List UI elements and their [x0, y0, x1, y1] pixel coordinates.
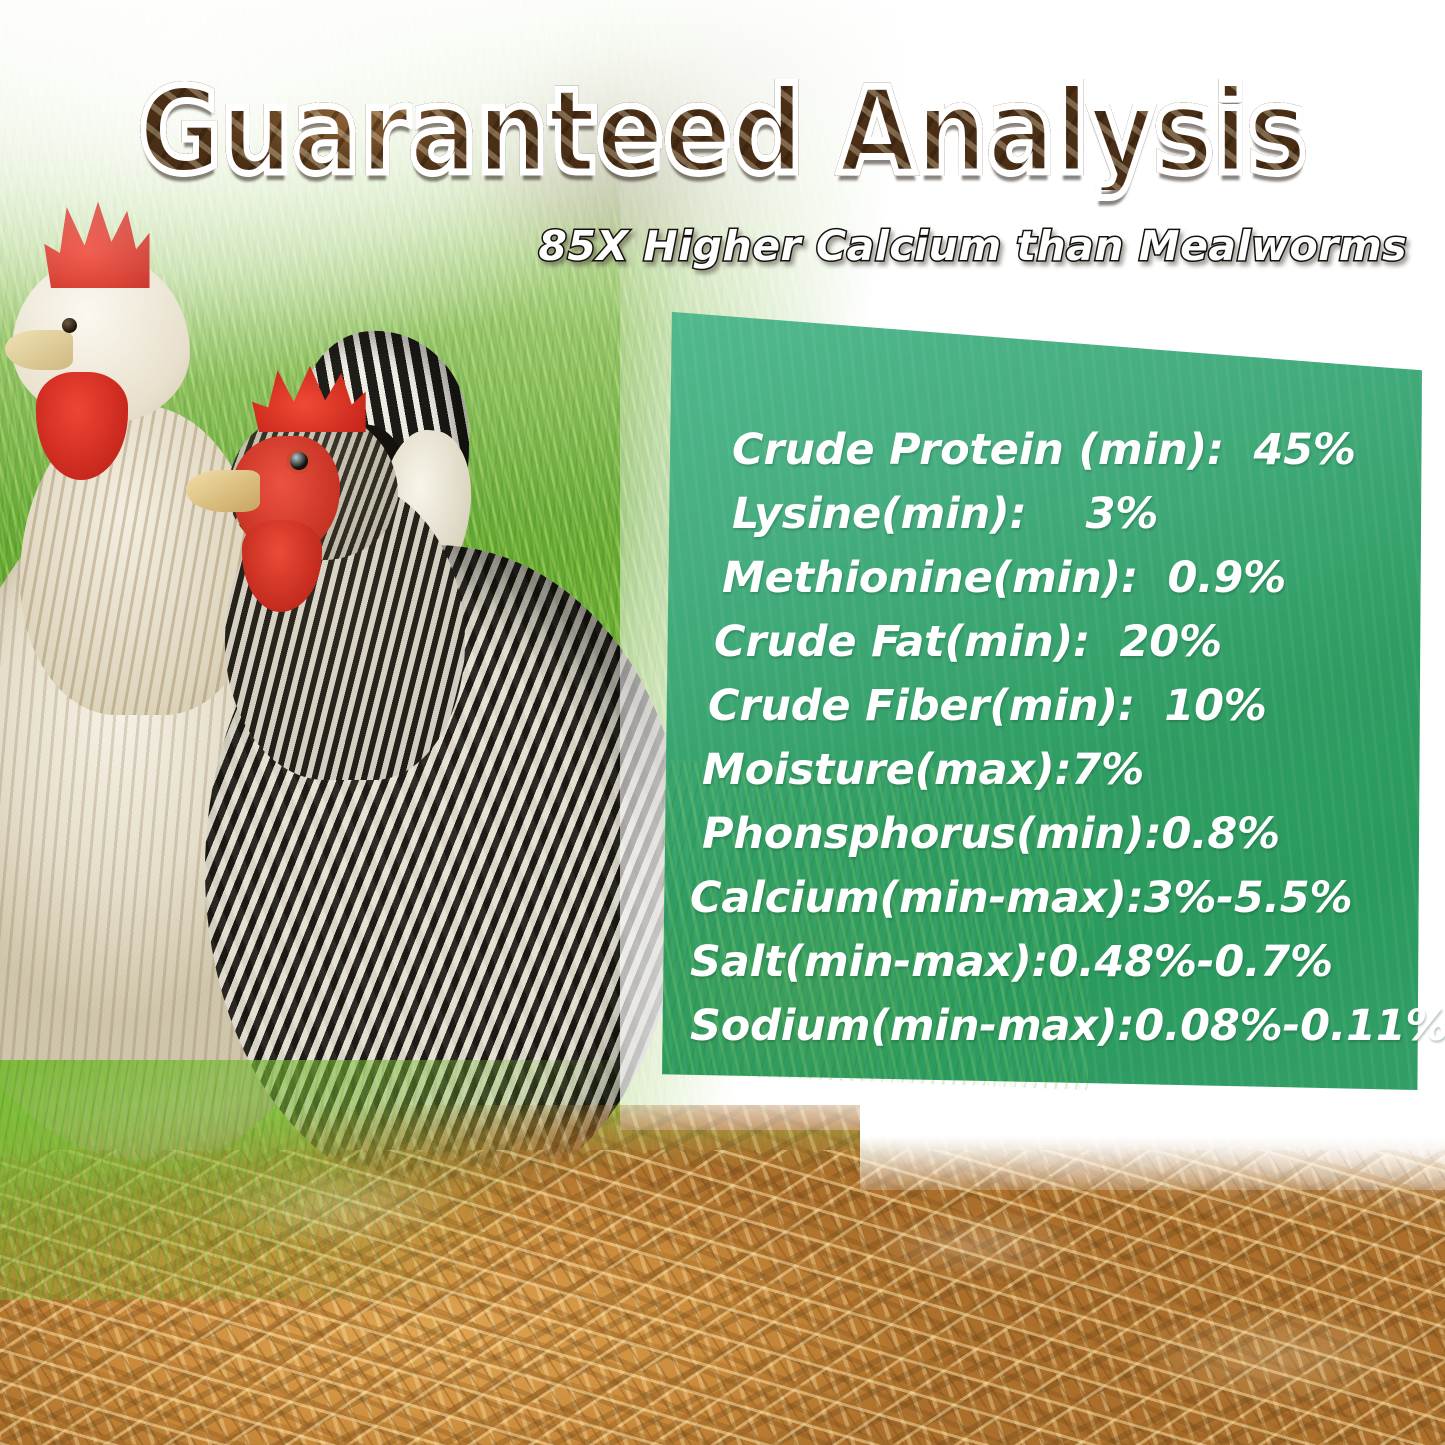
subtitle-text: 85X Higher Calcium than Mealworms: [538, 222, 1407, 270]
nutrition-row-phosphorus: Phonsphorus(min):0.8%: [690, 802, 1430, 866]
nutrition-row-salt: Salt(min-max):0.48%-0.7%: [690, 930, 1430, 994]
grass-larvae-blend: [0, 1060, 620, 1300]
barred-chicken-eye: [290, 452, 308, 470]
nutrition-list: Crude Protein (min): 45% Lysine(min): 3%…: [690, 418, 1430, 1058]
nutrition-row-crude-fat: Crude Fat(min): 20%: [690, 610, 1430, 674]
nutrition-row-lysine: Lysine(min): 3%: [690, 482, 1430, 546]
nutrition-row-sodium: Sodium(min-max):0.08%-0.11%: [690, 994, 1430, 1058]
nutrition-row-methionine: Methionine(min): 0.9%: [690, 546, 1430, 610]
product-infographic: Guaranteed Analysis Guaranteed Analysis …: [0, 0, 1445, 1445]
nutrition-row-moisture: Moisture(max):7%: [690, 738, 1430, 802]
white-chicken-beak: [5, 330, 73, 370]
barred-chicken-beak: [186, 470, 260, 512]
nutrition-row-crude-protein: Crude Protein (min): 45%: [690, 418, 1430, 482]
nutrition-row-calcium: Calcium(min-max):3%-5.5%: [690, 866, 1430, 930]
page-title-text: Guaranteed Analysis: [101, 72, 1344, 190]
nutrition-row-crude-fiber: Crude Fiber(min): 10%: [690, 674, 1430, 738]
